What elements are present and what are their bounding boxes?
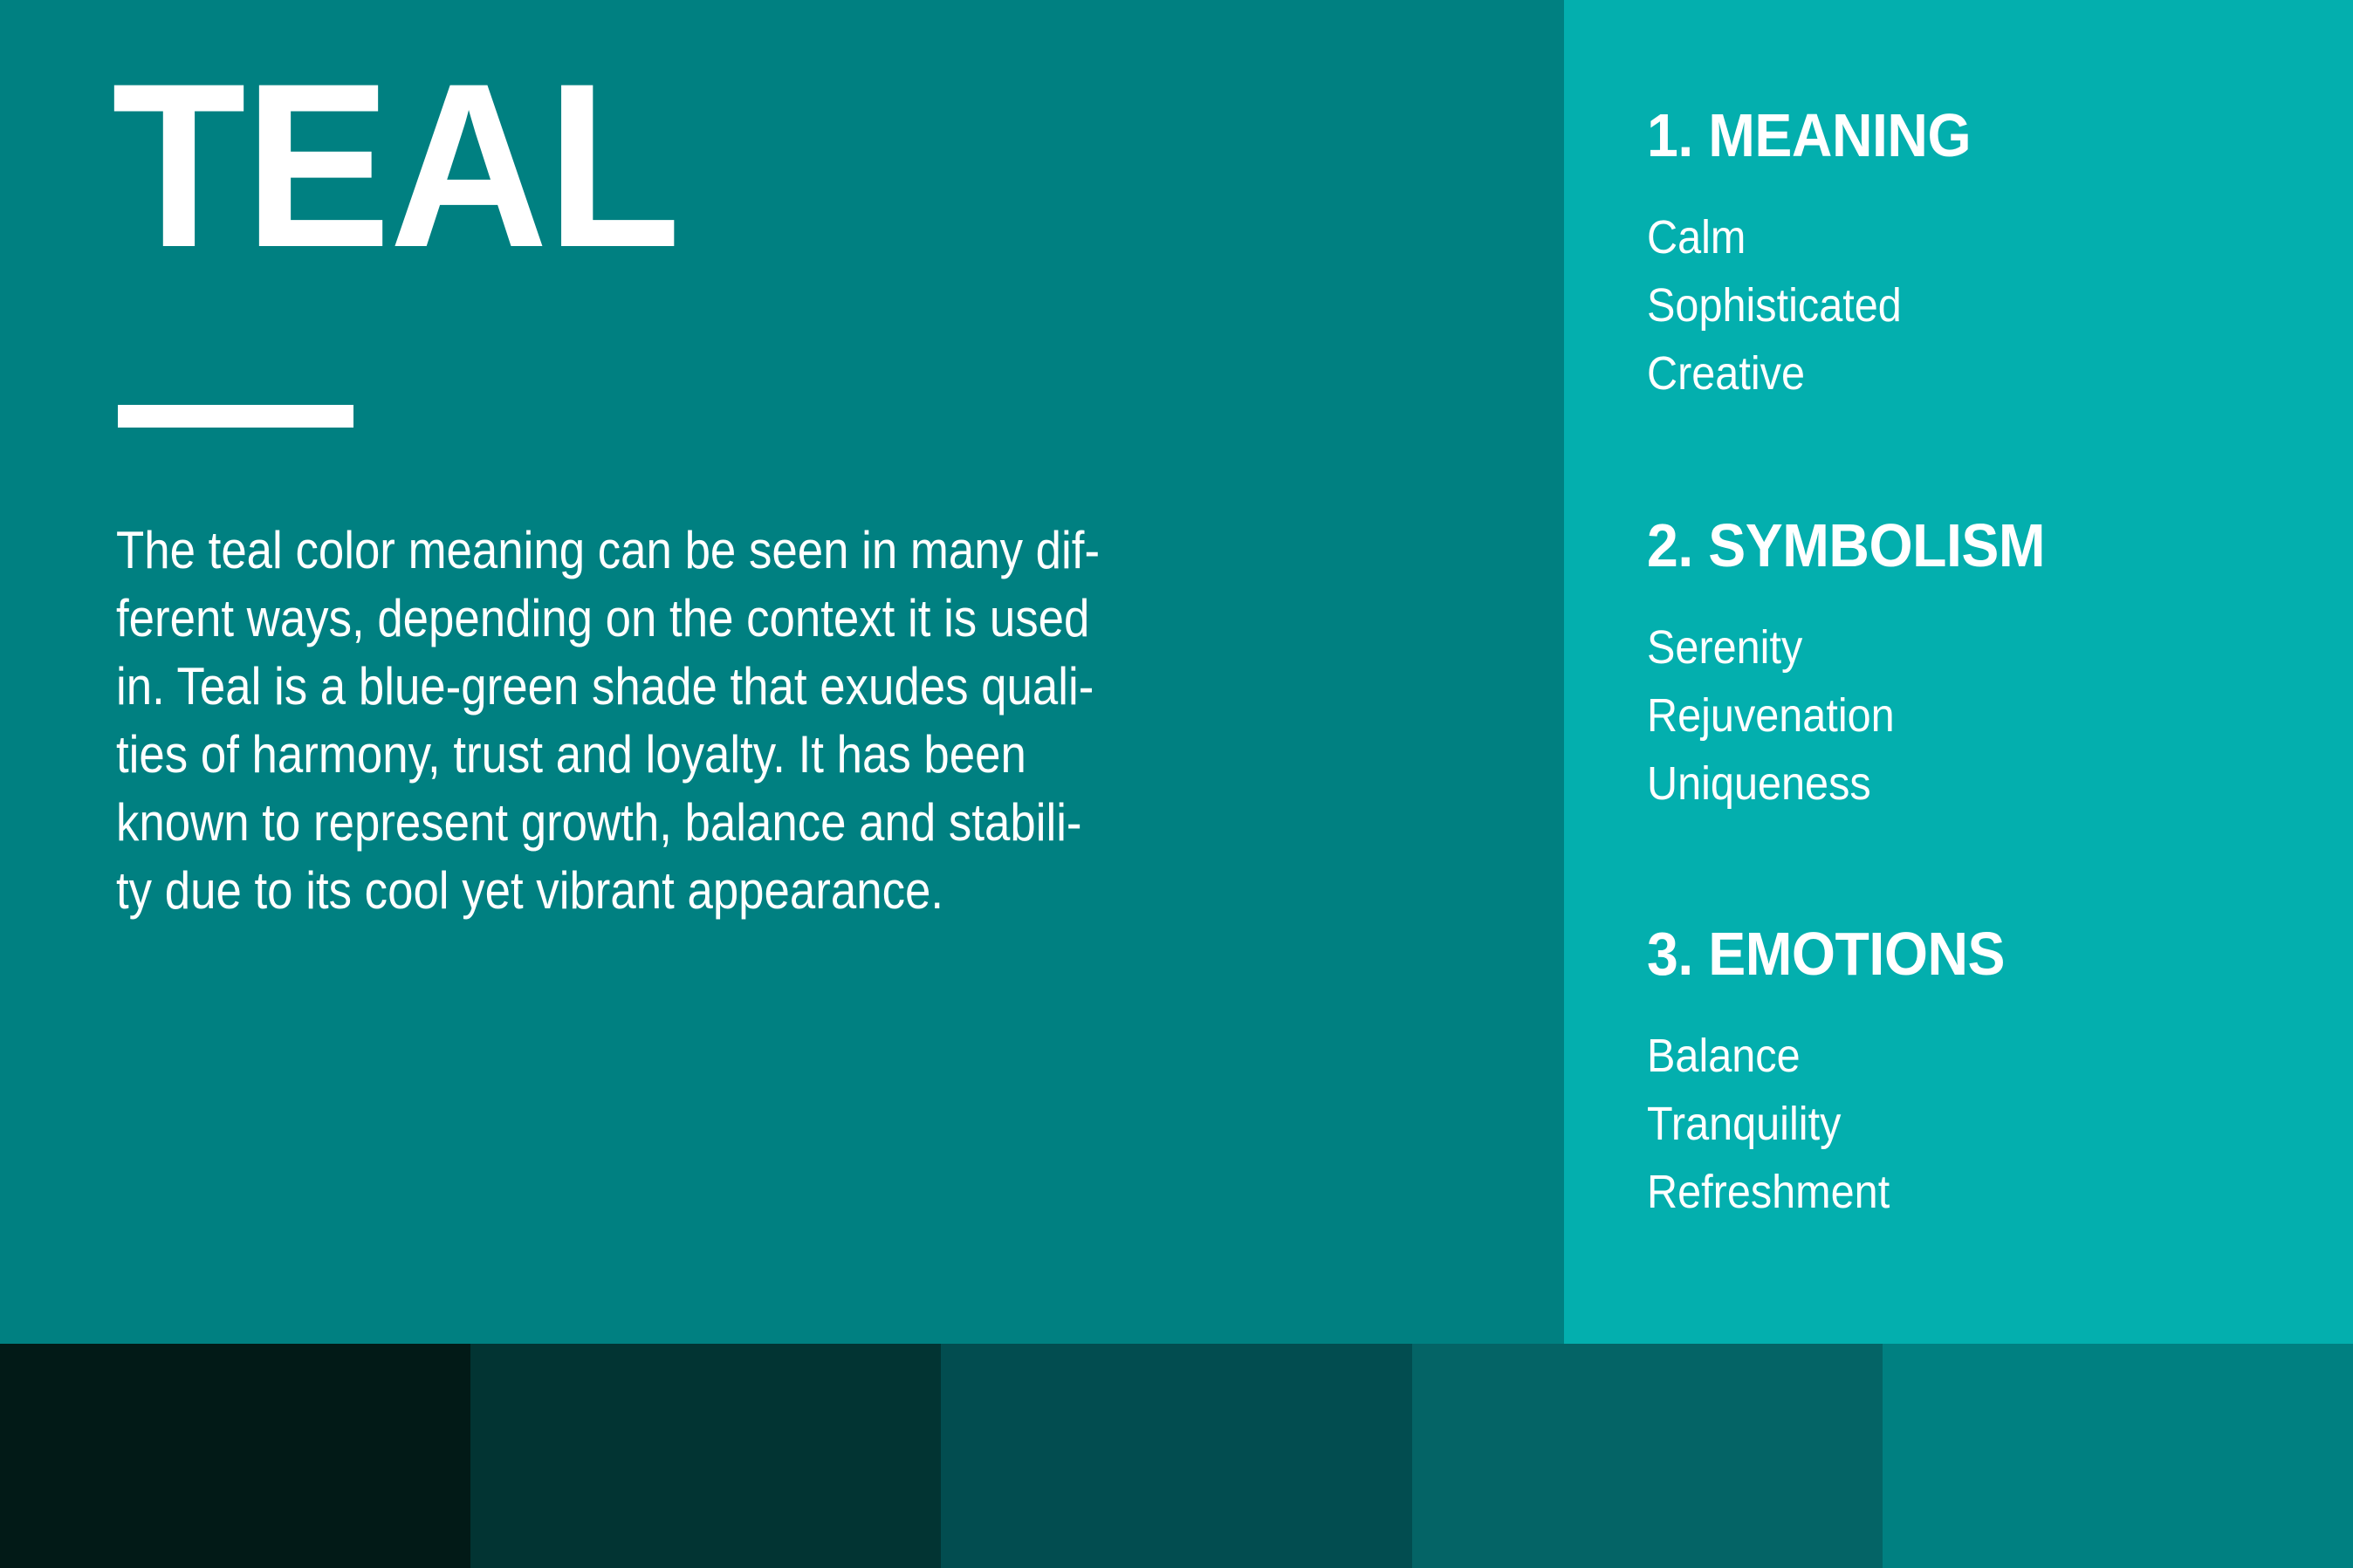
- color-swatch-teal-medium: [1412, 1344, 1883, 1568]
- attribute-item: Sophisticated: [1647, 272, 2291, 340]
- attribute-item: Creative: [1647, 340, 2291, 408]
- section-heading-emotions: 3. EMOTIONS: [1647, 923, 2305, 984]
- color-swatch-teal-base: [1883, 1344, 2353, 1568]
- color-swatch-teal-dark: [941, 1344, 1411, 1568]
- section-symbolism: 2. SYMBOLISM SerenityRejuvenationUniquen…: [1647, 515, 2353, 818]
- attribute-item: Refreshment: [1647, 1159, 2291, 1227]
- paragraph-line: The teal color meaning can be seen in ma…: [116, 517, 1314, 585]
- color-swatch-teal-darkest: [0, 1344, 470, 1568]
- page-title: TEAL: [112, 54, 679, 277]
- section-items-meaning: CalmSophisticatedCreative: [1647, 204, 2291, 407]
- color-swatch-teal-darker: [470, 1344, 941, 1568]
- section-meaning: 1. MEANING CalmSophisticatedCreative: [1647, 105, 2353, 407]
- attribute-item: Rejuvenation: [1647, 682, 2291, 750]
- hero-paragraph: The teal color meaning can be seen in ma…: [116, 517, 1314, 925]
- paragraph-line: known to represent growth, balance and s…: [116, 789, 1314, 857]
- paragraph-line: ties of harmony, trust and loyalty. It h…: [116, 721, 1314, 789]
- title-divider-rule: [118, 405, 353, 428]
- infographic-canvas: TEAL The teal color meaning can be seen …: [0, 0, 2353, 1568]
- attribute-item: Balance: [1647, 1023, 2291, 1091]
- hero-panel: TEAL The teal color meaning can be seen …: [0, 0, 1564, 1344]
- section-items-emotions: BalanceTranquilityRefreshment: [1647, 1023, 2291, 1226]
- paragraph-line: ty due to its cool yet vibrant appearanc…: [116, 857, 1314, 925]
- attribute-item: Serenity: [1647, 614, 2291, 682]
- section-items-symbolism: SerenityRejuvenationUniqueness: [1647, 614, 2291, 818]
- paragraph-line: in. Teal is a blue-green shade that exud…: [116, 653, 1314, 721]
- section-heading-meaning: 1. MEANING: [1647, 105, 2305, 166]
- attributes-panel: 1. MEANING CalmSophisticatedCreative 2. …: [1564, 0, 2353, 1344]
- section-heading-symbolism: 2. SYMBOLISM: [1647, 515, 2305, 576]
- section-emotions: 3. EMOTIONS BalanceTranquilityRefreshmen…: [1647, 923, 2353, 1226]
- paragraph-line: ferent ways, depending on the context it…: [116, 585, 1314, 653]
- attribute-item: Tranquility: [1647, 1091, 2291, 1159]
- attribute-item: Uniqueness: [1647, 750, 2291, 818]
- color-swatch-strip: [0, 1344, 2353, 1568]
- attribute-item: Calm: [1647, 204, 2291, 272]
